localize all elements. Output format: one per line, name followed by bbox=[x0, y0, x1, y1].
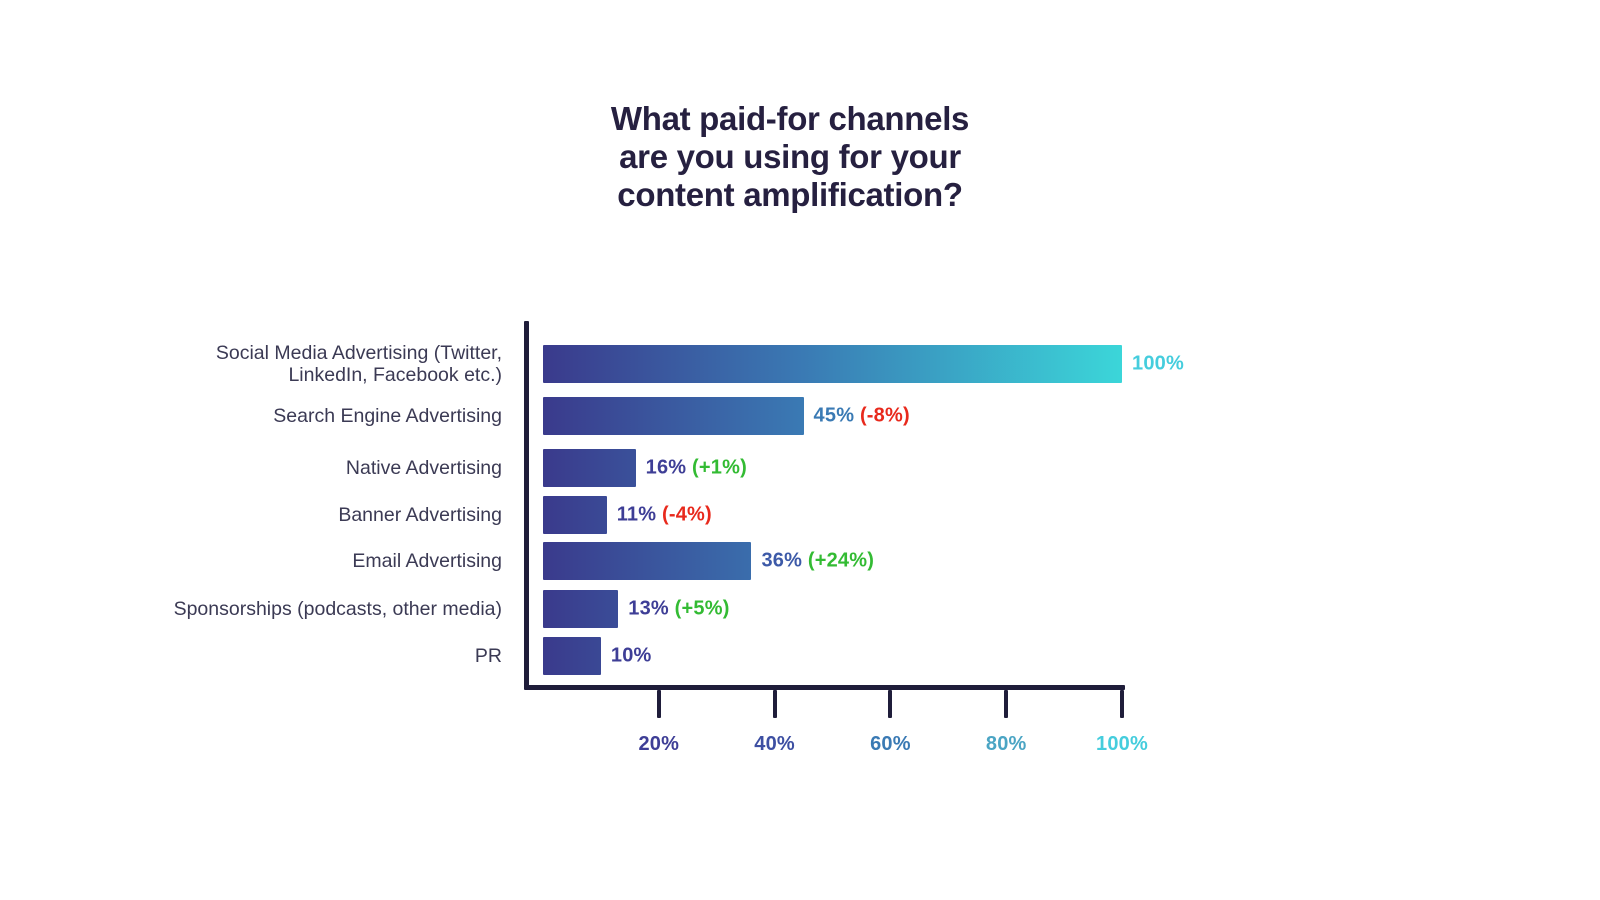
bar-fill bbox=[543, 449, 636, 487]
bar-value: 16% bbox=[646, 457, 687, 479]
bar-delta-label: (-8%) bbox=[854, 405, 910, 427]
bar-value: 10% bbox=[611, 645, 652, 667]
x-axis-tick bbox=[888, 690, 892, 718]
bar-value-label: 11% (-4%) bbox=[617, 504, 712, 527]
bar-fill bbox=[543, 397, 804, 435]
x-axis-tick bbox=[657, 690, 661, 718]
bar-value: 11% bbox=[617, 504, 657, 526]
bar bbox=[543, 637, 601, 675]
bar-delta-label: (+24%) bbox=[802, 550, 874, 572]
bar-value: 13% bbox=[628, 598, 669, 620]
bar-fill bbox=[543, 542, 751, 580]
bar-value: 45% bbox=[814, 405, 855, 427]
category-label: Native Advertising bbox=[346, 457, 502, 479]
bar-value-label: 10% bbox=[611, 645, 652, 668]
x-axis-tick-label: 80% bbox=[986, 733, 1027, 756]
bar-fill bbox=[543, 637, 601, 675]
bar-value-label: 36% (+24%) bbox=[761, 550, 874, 573]
x-axis-tick-label: 100% bbox=[1096, 733, 1148, 756]
category-label: Banner Advertising bbox=[338, 504, 502, 526]
bar-delta-label: (-4%) bbox=[656, 504, 712, 526]
category-label: Social Media Advertising (Twitter, Linke… bbox=[216, 342, 502, 386]
category-label: Email Advertising bbox=[352, 550, 502, 572]
bar-delta-label: (+5%) bbox=[669, 598, 730, 620]
x-axis-tick bbox=[1004, 690, 1008, 718]
plot-area: 20%40%60%80%100% Social Media Advertisin… bbox=[0, 0, 1600, 900]
bar-fill bbox=[543, 345, 1122, 383]
x-axis-tick bbox=[773, 690, 777, 718]
category-label: Sponsorships (podcasts, other media) bbox=[174, 598, 502, 620]
bar bbox=[543, 590, 618, 628]
bar-delta-label: (+1%) bbox=[686, 457, 747, 479]
bar-value-label: 13% (+5%) bbox=[628, 598, 729, 621]
x-axis-line bbox=[524, 685, 1125, 690]
bar-value-label: 45% (-8%) bbox=[814, 405, 910, 428]
y-axis-line bbox=[524, 321, 529, 689]
bar-value: 100% bbox=[1132, 353, 1184, 375]
bar-value: 36% bbox=[761, 550, 802, 572]
bar-fill bbox=[543, 590, 618, 628]
chart-canvas: What paid-for channels are you using for… bbox=[0, 0, 1600, 900]
bar-value-label: 16% (+1%) bbox=[646, 457, 747, 480]
x-axis-tick bbox=[1120, 690, 1124, 718]
x-axis-tick-label: 60% bbox=[870, 733, 911, 756]
bar bbox=[543, 397, 804, 435]
category-label: Search Engine Advertising bbox=[273, 405, 502, 427]
x-axis-tick-label: 40% bbox=[754, 733, 795, 756]
category-label: PR bbox=[475, 645, 502, 667]
bar-fill bbox=[543, 496, 607, 534]
bar bbox=[543, 449, 636, 487]
x-axis-tick-label: 20% bbox=[638, 733, 679, 756]
bar bbox=[543, 345, 1122, 383]
bar bbox=[543, 542, 751, 580]
bar-value-label: 100% bbox=[1132, 353, 1184, 376]
bar bbox=[543, 496, 607, 534]
